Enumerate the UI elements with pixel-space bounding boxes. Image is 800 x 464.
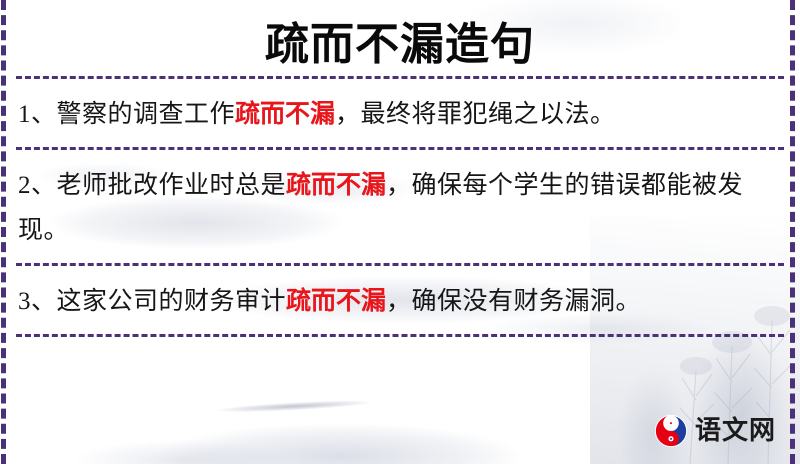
divider-bottom	[16, 334, 784, 337]
sentence-item-3: 3、这家公司的财务审计疏而不漏，确保没有财务漏洞。	[16, 266, 784, 334]
yinyang-circle-logo-icon	[654, 414, 688, 448]
watermark-brand-text: 语文网	[695, 418, 776, 444]
sentence-item-1: 1、警察的调查工作疏而不漏，最终将罪犯绳之以法。	[16, 79, 784, 147]
sentence-number-1: 1、	[18, 101, 57, 128]
worksheet-content: 疏而不漏造句 1、警察的调查工作疏而不漏，最终将罪犯绳之以法。 2、老师批改作业…	[0, 0, 800, 464]
highlighted-idiom-3: 疏而不漏	[286, 286, 386, 315]
sentence-number-2: 2、	[18, 172, 57, 199]
highlighted-idiom-2: 疏而不漏	[286, 170, 386, 199]
sentence-item-2: 2、老师批改作业时总是疏而不漏，确保每个学生的错误都能被发现。	[16, 150, 784, 263]
sentence-text-before-3: 这家公司的财务审计	[57, 288, 287, 315]
worksheet-page: 疏而不漏造句 1、警察的调查工作疏而不漏，最终将罪犯绳之以法。 2、老师批改作业…	[0, 0, 800, 464]
sentence-number-3: 3、	[18, 288, 57, 315]
sentence-text-after-1: ，最终将罪犯绳之以法。	[335, 101, 616, 128]
page-border-right	[790, 0, 795, 464]
sentence-text-before-2: 老师批改作业时总是	[57, 172, 287, 199]
sentence-text-after-3: ，确保没有财务漏洞。	[386, 288, 641, 315]
page-title: 疏而不漏造句	[16, 0, 784, 76]
highlighted-idiom-1: 疏而不漏	[235, 99, 335, 128]
sentence-text-before-1: 警察的调查工作	[57, 101, 236, 128]
site-watermark: 语文网	[654, 414, 776, 448]
page-border-left	[1, 0, 6, 464]
